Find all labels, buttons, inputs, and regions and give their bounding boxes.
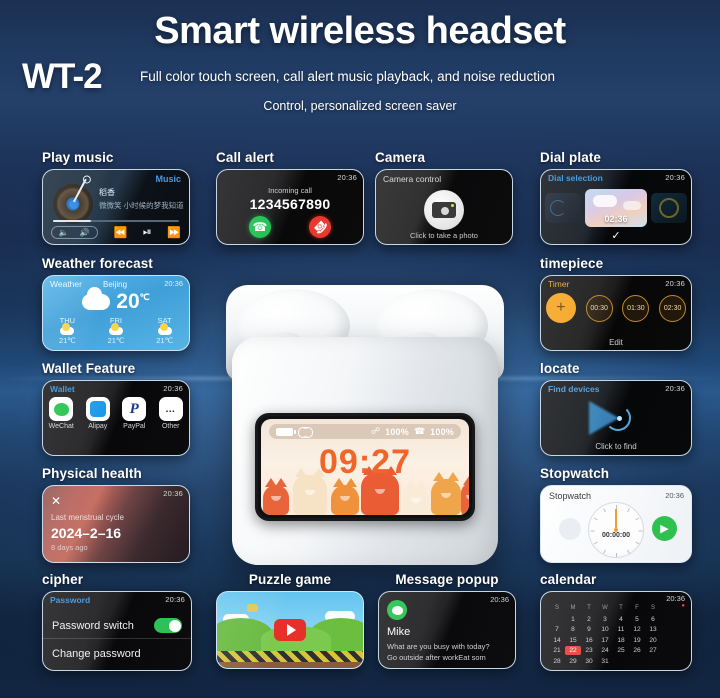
card-call-alert[interactable]: Call alert 20:36 Incoming call 123456789…: [216, 150, 364, 245]
card-label-stopwatch: Stopwatch: [540, 466, 692, 481]
device-screen[interactable]: ☍ 100% ☎ 100% 09:27: [255, 413, 475, 521]
calendar-marker: ●: [681, 603, 685, 609]
dial-face-next[interactable]: [651, 193, 687, 223]
page-title: Smart wireless headset: [0, 10, 720, 53]
calendar-day[interactable]: 14: [549, 636, 565, 645]
password-title: Password: [50, 595, 90, 605]
card-label-message-popup: Message popup: [378, 572, 516, 587]
dial-face-previous[interactable]: [545, 193, 581, 223]
weather-unit: ℃: [140, 292, 150, 302]
calendar-grid[interactable]: SMTWTFS123456789101112131415161718192021…: [549, 604, 661, 666]
card-label-call-alert: Call alert: [216, 150, 364, 165]
card-label-physical-health: Physical health: [42, 466, 190, 481]
model-name: WT-2: [22, 57, 102, 97]
wallet-app-paypal[interactable]: P PayPal: [120, 397, 148, 430]
status-time: 20:36: [163, 384, 183, 393]
calendar-weekday: T: [613, 604, 629, 613]
password-toggle[interactable]: [154, 618, 182, 633]
timepiece-screen[interactable]: Timer 20:36 + 00:30 01:30 02:30 Edit: [540, 275, 692, 351]
wallet-screen[interactable]: Wallet 20:36 WeChat Alipay P PayPal … Ot…: [42, 380, 190, 456]
status-time: 20:36: [666, 594, 685, 603]
timer-preset[interactable]: 02:30: [659, 295, 686, 322]
calendar-day[interactable]: 17: [597, 636, 613, 645]
card-physical-health[interactable]: Physical health 20:36 ✕ Last menstrual c…: [42, 466, 190, 563]
card-wallet[interactable]: Wallet Feature Wallet 20:36 WeChat Alipa…: [42, 361, 190, 456]
phone-accept-icon[interactable]: ☎: [249, 216, 271, 238]
stopwatch-title: Stopwatch: [549, 491, 591, 501]
cloud-icon: [82, 294, 110, 310]
calendar-weekday: S: [549, 604, 565, 613]
status-time: 20:36: [665, 384, 685, 393]
video-play-icon[interactable]: [274, 619, 306, 641]
card-label-timepiece: timepiece: [540, 256, 692, 271]
calendar-day[interactable]: 27: [645, 646, 661, 655]
calendar-blank: [549, 615, 565, 624]
calendar-day[interactable]: 10: [597, 625, 613, 634]
card-label-camera: Camera: [375, 150, 513, 165]
divider: [43, 638, 191, 639]
calendar-day[interactable]: 23: [581, 646, 597, 655]
forecast-day: SAT21℃: [156, 316, 173, 346]
status-time: 20:36: [665, 491, 684, 500]
card-label-dial-plate: Dial plate: [540, 150, 692, 165]
calendar-day[interactable]: 8: [565, 625, 581, 634]
stopwatch-dial: 00:00:00: [588, 502, 644, 558]
dial-face-selected[interactable]: 02:36: [585, 189, 647, 227]
status-time: 20:36: [164, 279, 183, 288]
left-bud-battery: 100%: [385, 427, 409, 437]
wallet-app-wechat[interactable]: WeChat: [47, 397, 75, 430]
poster-header: Smart wireless headset WT-2 Full color t…: [0, 0, 720, 113]
dial-plate-screen[interactable]: Dial selection 20:36 02:36 ✓: [540, 169, 692, 245]
play-pause-icon[interactable]: ⏯: [143, 226, 152, 239]
card-dial-plate[interactable]: Dial plate Dial selection 20:36 02:36 ✓: [540, 150, 692, 245]
message-line-1: What are you busy with today?: [387, 642, 490, 651]
weather-title: Weather: [50, 279, 82, 289]
card-cipher[interactable]: cipher Password 20:36 Password switch Ch…: [42, 572, 192, 671]
calendar-day[interactable]: 20: [645, 636, 661, 645]
card-locate[interactable]: locate Find devices 20:36 Click to find: [540, 361, 692, 456]
calendar-weekday: F: [629, 604, 645, 613]
card-label-cipher: cipher: [42, 572, 192, 587]
health-days-ago: 8 days ago: [51, 543, 88, 552]
card-calendar[interactable]: calendar 20:36 ● SMTWTFS1234567891011121…: [540, 572, 692, 671]
physical-health-screen[interactable]: 20:36 ✕ Last menstrual cycle 2024–2–16 8…: [42, 485, 190, 563]
calendar-day[interactable]: 18: [613, 636, 629, 645]
radar-icon: [589, 397, 633, 441]
timer-preset[interactable]: 01:30: [622, 295, 649, 322]
header-subtitle-1: Full color touch screen, call alert musi…: [140, 69, 610, 84]
calendar-day[interactable]: 19: [629, 636, 645, 645]
progress-bar[interactable]: [53, 220, 179, 222]
password-switch-row[interactable]: Password switch: [43, 618, 191, 633]
play-music-screen[interactable]: Music 稻香 微微笑 小时候的梦我知道 🔈🔊 ⏪ ⏯ ⏩: [42, 169, 190, 245]
calendar-day[interactable]: 6: [645, 615, 661, 624]
calendar-day[interactable]: 2: [581, 615, 597, 624]
wallet-app-alipay[interactable]: Alipay: [84, 397, 112, 430]
calendar-day[interactable]: 12: [629, 625, 645, 634]
card-message-popup[interactable]: Message popup 20:36 Mike What are you bu…: [378, 572, 516, 669]
call-alert-screen[interactable]: 20:36 Incoming call 1234567890 ☎ ☎: [216, 169, 364, 245]
wallet-title: Wallet: [50, 384, 75, 394]
wechat-icon: [387, 600, 407, 620]
camera-hint: Click to take a photo: [376, 231, 512, 240]
dirt-strip: [217, 662, 363, 668]
right-bud-battery: 100%: [430, 427, 454, 437]
check-icon[interactable]: ✓: [541, 229, 691, 242]
card-label-weather: Weather forecast: [42, 256, 190, 271]
vinyl-icon: [53, 184, 93, 224]
stopwatch-lap-button[interactable]: [559, 518, 581, 540]
card-label-play-music: Play music: [42, 150, 190, 165]
cloud-sun-icon: [60, 327, 74, 335]
calendar-day[interactable]: 30: [581, 657, 597, 666]
calendar-day[interactable]: 11: [613, 625, 629, 634]
calendar-day[interactable]: 3: [597, 615, 613, 624]
change-password-row[interactable]: Change password: [43, 648, 191, 660]
card-label-locate: locate: [540, 361, 692, 376]
forecast-day: THU21℃: [59, 316, 76, 346]
volume-icon[interactable]: 🔈🔊: [51, 226, 98, 239]
card-label-calendar: calendar: [540, 572, 692, 587]
card-play-music[interactable]: Play music Music 稻香 微微笑 小时候的梦我知道 🔈🔊 ⏪ ⏯ …: [42, 150, 190, 245]
card-stopwatch[interactable]: Stopwatch Stopwatch 20:36 00:00:00: [540, 466, 692, 563]
status-time: 20:36: [490, 595, 509, 604]
health-caption: Last menstrual cycle: [51, 513, 124, 522]
calendar-day[interactable]: 5: [629, 615, 645, 624]
calendar-weekday: M: [565, 604, 581, 613]
calendar-weekday: T: [581, 604, 597, 613]
camera-title: Camera control: [383, 174, 441, 184]
forecast-day: FRI21℃: [108, 316, 125, 346]
cloud-sun-icon: [109, 327, 123, 335]
calendar-day[interactable]: 24: [597, 646, 613, 655]
play-icon[interactable]: ▶: [652, 516, 677, 541]
right-earbud-icon: ☎: [414, 426, 425, 437]
left-earbud-icon: ☍: [371, 426, 380, 437]
card-timepiece[interactable]: timepiece Timer 20:36 + 00:30 01:30 02:3…: [540, 256, 692, 351]
message-line-2: Go outside after workEat som: [387, 653, 486, 662]
weather-city: Beijing: [103, 280, 127, 289]
card-camera[interactable]: Camera Camera control Click to take a ph…: [375, 150, 513, 245]
calendar-day[interactable]: 31: [597, 657, 613, 666]
calendar-day[interactable]: 9: [581, 625, 597, 634]
calendar-weekday: S: [645, 604, 661, 613]
status-time: 20:36: [665, 173, 685, 182]
poster-background: Smart wireless headset WT-2 Full color t…: [0, 0, 720, 698]
ground-strip: [217, 651, 363, 662]
calendar-day[interactable]: 29: [565, 657, 581, 666]
stopwatch-screen[interactable]: Stopwatch 20:36 00:00:00 ▶: [540, 485, 692, 563]
music-app-label: Music: [155, 174, 181, 184]
song-title: 稻香: [99, 187, 115, 198]
previous-track-icon[interactable]: ⏪: [113, 226, 127, 239]
card-label-wallet: Wallet Feature: [42, 361, 190, 376]
dial-selection-title: Dial selection: [548, 173, 603, 183]
link-icon: [298, 427, 313, 436]
cloud-sun-icon: [158, 327, 172, 335]
more-icon: …: [159, 397, 183, 421]
password-switch-label: Password switch: [52, 620, 134, 632]
song-artist: 微微笑 小时候的梦我知道: [99, 200, 184, 211]
bird-sprite: [247, 604, 258, 612]
cipher-screen[interactable]: Password 20:36 Password switch Change pa…: [42, 591, 192, 671]
timer-preset[interactable]: 00:30: [586, 295, 613, 322]
card-weather[interactable]: Weather forecast Weather Beijing 20:36 2…: [42, 256, 190, 351]
calendar-day[interactable]: 15: [565, 636, 581, 645]
product-image: ☍ 100% ☎ 100% 09:27: [210, 245, 520, 585]
wallet-app-other[interactable]: … Other: [157, 397, 185, 430]
stopwatch-time: 00:00:00: [589, 532, 643, 539]
calendar-day[interactable]: 4: [613, 615, 629, 624]
change-password-label: Change password: [52, 648, 141, 660]
paypal-icon: P: [122, 397, 146, 421]
status-time: 20:36: [665, 279, 685, 288]
timer-title: Timer: [548, 279, 569, 289]
calendar-day[interactable]: 26: [629, 646, 645, 655]
cat-wallpaper: [261, 469, 469, 515]
status-time: 20:36: [163, 489, 183, 498]
camera-icon[interactable]: [424, 190, 464, 230]
locate-hint: Click to find: [541, 442, 691, 451]
find-devices-title: Find devices: [548, 384, 600, 394]
calendar-weekday: W: [597, 604, 613, 613]
plus-icon[interactable]: +: [546, 293, 576, 323]
weather-temp: 20: [116, 290, 139, 313]
message-sender: Mike: [387, 626, 410, 638]
locate-screen[interactable]: Find devices 20:36 Click to find: [540, 380, 692, 456]
weather-screen[interactable]: Weather Beijing 20:36 20℃ THU21℃ FRI21℃ …: [42, 275, 190, 351]
calendar-screen[interactable]: 20:36 ● SMTWTFS1234567891011121314151617…: [540, 591, 692, 671]
calendar-day[interactable]: 25: [613, 646, 629, 655]
battery-icon: [276, 428, 293, 436]
calendar-day[interactable]: 16: [581, 636, 597, 645]
camera-screen[interactable]: Camera control Click to take a photo: [375, 169, 513, 245]
phone-decline-icon[interactable]: ☎: [309, 216, 331, 238]
dial-preview-time: 02:36: [585, 214, 647, 224]
caller-number: 1234567890: [217, 196, 363, 212]
puzzle-game-screen[interactable]: [216, 591, 364, 669]
incoming-call-label: Incoming call: [217, 186, 363, 195]
close-icon[interactable]: ✕: [51, 495, 61, 507]
timer-edit-button[interactable]: Edit: [541, 338, 691, 347]
calendar-day[interactable]: 1: [565, 615, 581, 624]
health-date: 2024–2–16: [51, 525, 121, 541]
message-popup-screen[interactable]: 20:36 Mike What are you busy with today?…: [378, 591, 516, 669]
next-track-icon[interactable]: ⏩: [167, 226, 181, 239]
calendar-day[interactable]: 21: [549, 646, 565, 655]
card-puzzle-game[interactable]: Puzzle game: [216, 572, 364, 669]
calendar-day-selected[interactable]: 22: [565, 646, 581, 655]
calendar-day[interactable]: 7: [549, 625, 565, 634]
alipay-icon: [86, 397, 110, 421]
device-status-bar: ☍ 100% ☎ 100%: [269, 424, 461, 439]
calendar-day[interactable]: 28: [549, 657, 565, 666]
status-time: 20:36: [165, 595, 185, 604]
calendar-day[interactable]: 13: [645, 625, 661, 634]
card-label-puzzle-game: Puzzle game: [216, 572, 364, 587]
status-time: 20:36: [337, 173, 357, 182]
wechat-icon: [49, 397, 73, 421]
